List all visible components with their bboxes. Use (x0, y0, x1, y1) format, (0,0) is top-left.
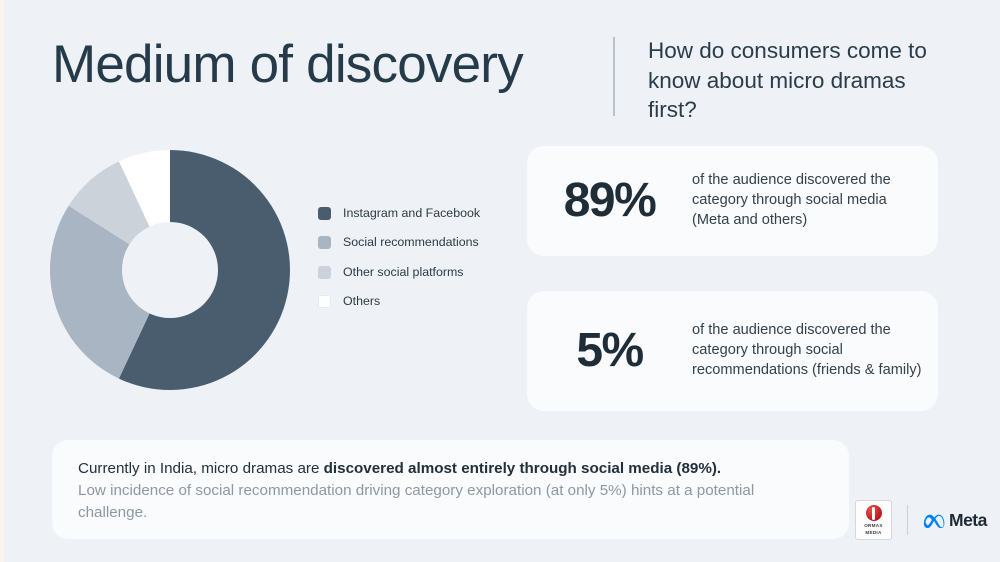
logo-divider (907, 505, 908, 535)
meta-wordmark: Meta (949, 510, 987, 531)
meta-infinity-icon (923, 513, 945, 528)
chart-legend: Instagram and Facebook Social recommenda… (318, 205, 488, 323)
header-divider (613, 37, 615, 116)
legend-label: Others (343, 293, 380, 309)
legend-item: Others (318, 293, 488, 309)
donut-chart-svg (50, 150, 290, 390)
legend-swatch-social-recommendations (318, 236, 331, 249)
ormax-sphere-icon (866, 505, 882, 521)
legend-swatch-other-social-platforms (318, 266, 331, 279)
stat-card-5-percent: 5% of the audience discovered the catego… (527, 291, 938, 411)
ormax-logo-line1: ORMAX (864, 523, 883, 528)
ormax-logo-text: ORMAX MEDIA (864, 523, 883, 535)
legend-label: Instagram and Facebook (343, 205, 480, 221)
legend-swatch-others (318, 295, 331, 308)
callout-panel: Currently in India, micro dramas are dis… (52, 440, 849, 539)
callout-line-primary: Currently in India, micro dramas are dis… (78, 458, 823, 480)
header: Medium of discovery How do consumers com… (0, 0, 1000, 140)
header-question: How do consumers come to know about micr… (648, 36, 958, 125)
legend-swatch-instagram-and-facebook (318, 207, 331, 220)
donut-chart (50, 150, 290, 390)
callout-emphasis: discovered almost entirely through socia… (324, 460, 722, 477)
meta-logo: Meta (923, 510, 987, 531)
stat-value: 89% (527, 177, 692, 225)
logo-bar: ORMAX MEDIA Meta (855, 498, 987, 542)
page-title: Medium of discovery (52, 36, 523, 94)
stat-description: of the audience discovered the category … (692, 321, 938, 381)
stat-value: 5% (527, 327, 692, 375)
callout-prefix: Currently in India, micro dramas are (78, 460, 324, 477)
donut-hole (122, 222, 218, 318)
callout-line-secondary: Low incidence of social recommendation d… (78, 480, 823, 524)
legend-item: Other social platforms (318, 264, 488, 280)
legend-label: Other social platforms (343, 264, 464, 280)
legend-item: Social recommendations (318, 234, 488, 250)
legend-item: Instagram and Facebook (318, 205, 488, 221)
legend-label: Social recommendations (343, 234, 479, 250)
ormax-media-logo: ORMAX MEDIA (855, 500, 892, 540)
stat-card-89-percent: 89% of the audience discovered the categ… (527, 146, 938, 256)
stat-description: of the audience discovered the category … (692, 171, 938, 231)
ormax-logo-line2: MEDIA (865, 530, 881, 535)
